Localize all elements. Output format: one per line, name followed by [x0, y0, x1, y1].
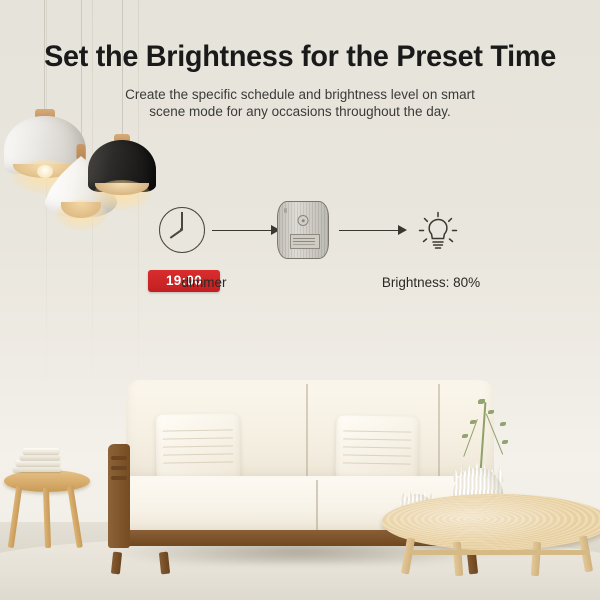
coffee-table-leg: [531, 542, 541, 576]
plant-leaf: [478, 399, 485, 404]
side-table-leg: [8, 486, 23, 548]
clock-center-dot: [180, 228, 183, 231]
arrow-right-icon: [339, 225, 407, 235]
sofa-leg: [159, 552, 170, 575]
side-table-leg: [43, 488, 51, 548]
coffee-table: [382, 484, 600, 576]
sofa-arm: [108, 444, 130, 548]
book: [23, 448, 59, 454]
page-title: Set the Brightness for the Preset Time: [12, 40, 588, 74]
book: [20, 454, 60, 460]
book: [13, 466, 61, 472]
sofa-seat-divider: [316, 480, 318, 534]
plant-leaf: [462, 434, 468, 438]
sofa-cushion-divider: [438, 384, 440, 480]
brightness-caption: Brightness: 80%: [131, 275, 600, 290]
clock-minute-hand: [181, 212, 183, 230]
dimmer-faceplate-label: [290, 234, 320, 249]
side-table: [4, 448, 90, 552]
throw-pillow-right: [335, 415, 418, 480]
plant-leaf: [488, 410, 494, 414]
plant-leaf: [470, 420, 476, 424]
dimmer-knob: [298, 215, 309, 226]
plant-leaf: [502, 440, 508, 444]
page-subtitle: Create the specific schedule and brightn…: [110, 86, 490, 120]
dimmer-body: [277, 201, 329, 259]
throw-pillow-left: [155, 413, 240, 480]
dimmer-indicator: [284, 208, 287, 213]
coffee-table-leg: [401, 538, 415, 575]
coffee-table-brace: [410, 550, 590, 555]
product-lifestyle-banner: Set the Brightness for the Preset Time C…: [0, 0, 600, 600]
arrow-right-icon: [212, 225, 280, 235]
clock-face: [159, 207, 205, 253]
book: [16, 460, 60, 466]
light-bulb-icon: [410, 203, 466, 259]
side-table-leg: [67, 486, 83, 548]
sofa-cushion-divider: [306, 384, 308, 480]
plant-leaf: [500, 422, 506, 426]
clock-icon: [159, 207, 207, 255]
coffee-table-top: [382, 494, 600, 550]
dimmer-device-icon: [277, 201, 329, 261]
